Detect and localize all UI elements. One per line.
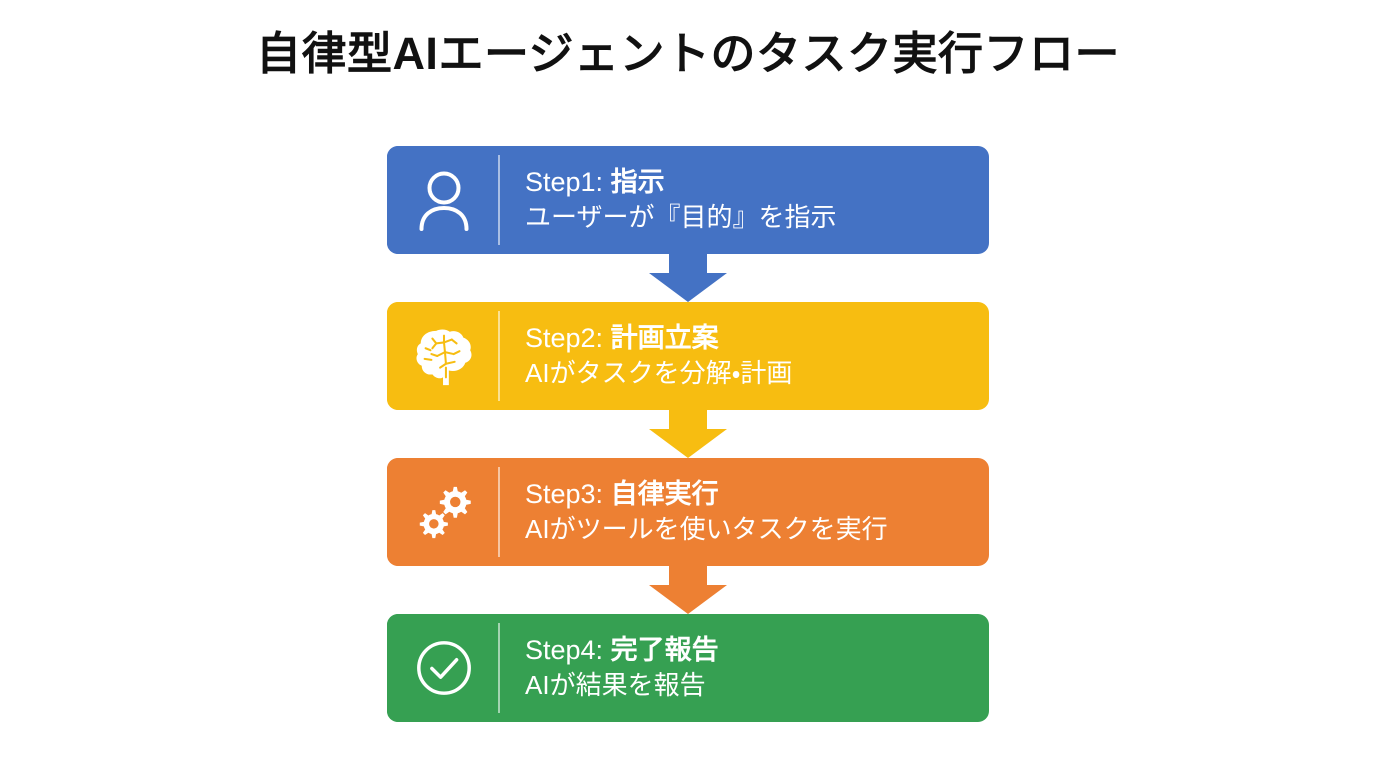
flow-step-4[interactable]: Step4: 完了報告 AIが結果を報告 (387, 614, 989, 722)
flow-connector-1 (387, 254, 989, 302)
brain-icon (413, 325, 475, 387)
flow-step-1-text: Step1: 指示 ユーザーが『目的』を指示 (500, 146, 989, 254)
flow-step-3-text: Step3: 自律実行 AIがツールを使いタスクを実行 (500, 458, 989, 566)
gears-icon (413, 481, 475, 543)
check-circle-icon (413, 637, 475, 699)
flow-step-4-name: 完了報告 (611, 635, 719, 665)
flow-step-2[interactable]: Step2: 計画立案 AIがタスクを分解・計画 (387, 302, 989, 410)
flow-diagram: Step1: 指示 ユーザーが『目的』を指示 (387, 146, 989, 722)
flow-step-3-heading: Step3: 自律実行 (525, 478, 975, 511)
flow-connector-3 (387, 566, 989, 614)
flow-step-2-icon-pane (387, 302, 500, 410)
flow-step-3-name: 自律実行 (611, 479, 719, 509)
flow-step-1-name: 指示 (611, 167, 665, 197)
flow-step-4-label: Step4: (525, 635, 603, 665)
person-icon (415, 169, 473, 231)
diagram-canvas: 自律型AIエージェントのタスク実行フロー Step1: 指示 ユーザーが『目的』… (0, 0, 1376, 768)
flow-step-3-description: AIがツールを使いタスクを実行 (525, 513, 975, 546)
flow-step-2-name: 計画立案 (611, 323, 719, 353)
flow-step-2-description: AIがタスクを分解・計画 (525, 357, 975, 390)
flow-step-2-heading: Step2: 計画立案 (525, 322, 975, 355)
flow-step-1-label: Step1: (525, 167, 603, 197)
flow-step-2-text: Step2: 計画立案 AIがタスクを分解・計画 (500, 302, 989, 410)
flow-step-1[interactable]: Step1: 指示 ユーザーが『目的』を指示 (387, 146, 989, 254)
flow-step-2-label: Step2: (525, 323, 603, 353)
flow-step-4-text: Step4: 完了報告 AIが結果を報告 (500, 614, 989, 722)
page-title: 自律型AIエージェントのタスク実行フロー (0, 28, 1376, 80)
flow-step-3-icon-pane (387, 458, 500, 566)
flow-step-1-description: ユーザーが『目的』を指示 (525, 201, 975, 234)
flow-connector-2 (387, 410, 989, 458)
flow-step-3[interactable]: Step3: 自律実行 AIがツールを使いタスクを実行 (387, 458, 989, 566)
flow-step-4-description: AIが結果を報告 (525, 669, 975, 702)
flow-step-1-heading: Step1: 指示 (525, 166, 975, 199)
flow-step-4-icon-pane (387, 614, 500, 722)
flow-step-1-icon-pane (387, 146, 500, 254)
flow-step-4-heading: Step4: 完了報告 (525, 634, 975, 667)
flow-step-3-label: Step3: (525, 479, 603, 509)
